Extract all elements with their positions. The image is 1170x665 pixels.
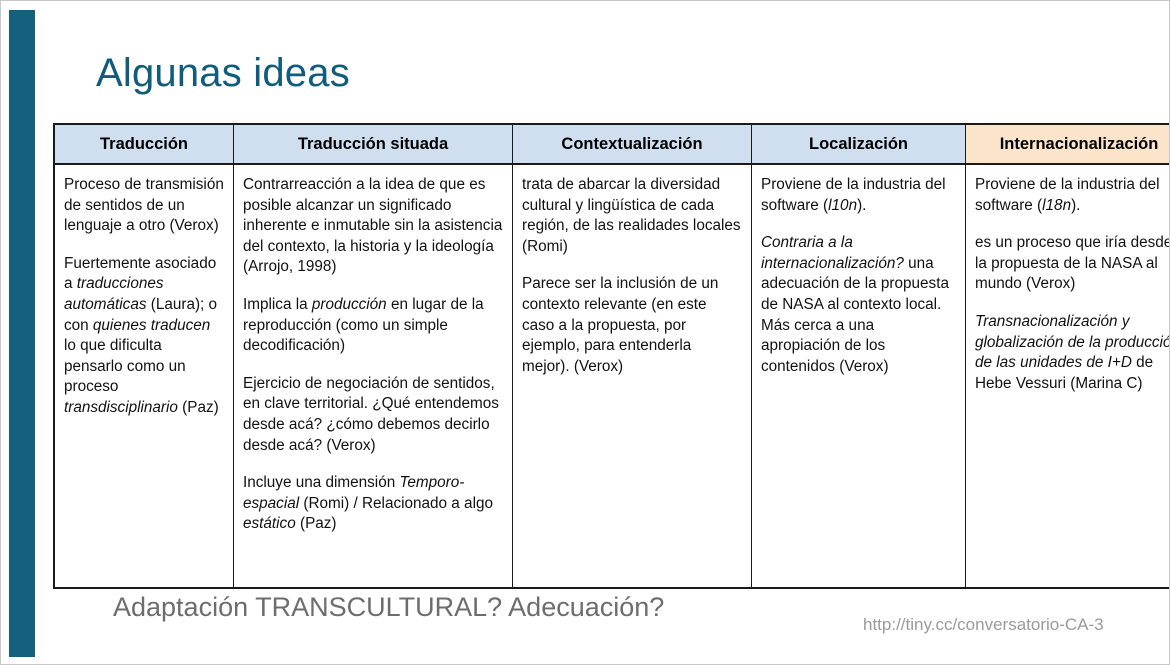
footer-question: Adaptación TRANSCULTURAL? Adecuación?: [113, 589, 664, 625]
table-header-row: Traducción Traducción situada Contextual…: [54, 124, 1170, 164]
plain-text: lo que dificulta pensarlo como un proces…: [64, 337, 186, 395]
cell-traduccion-situada: Contrarreacción a la idea de que es posi…: [234, 164, 513, 588]
column-header-localizacion: Localización: [752, 124, 966, 164]
cell-paragraph: Fuertemente asociado a traducciones auto…: [64, 254, 224, 419]
cell-paragraph: Ejercicio de negociación de sentidos, en…: [243, 374, 503, 456]
cell-contextualizacion: trata de abarcar la diversidad cultural …: [513, 164, 752, 588]
cell-localizacion: Proviene de la industria del software (l…: [752, 164, 966, 588]
cell-paragraph: es un proceso que iría desde la propuest…: [975, 233, 1170, 295]
table-body: Proceso de transmisión de sentidos de un…: [54, 164, 1170, 588]
ideas-table-wrapper: Traducción Traducción situada Contextual…: [53, 123, 1146, 589]
cell-paragraph: Parece ser la inclusión de un contexto r…: [522, 274, 742, 377]
plain-text: (Romi) / Relacionado a algo: [299, 495, 493, 512]
plain-text: Parece ser la inclusión de un contexto r…: [522, 275, 718, 374]
table-header: Traducción Traducción situada Contextual…: [54, 124, 1170, 164]
cell-internacionalizacion: Proviene de la industria del software (l…: [966, 164, 1170, 588]
cell-paragraph: trata de abarcar la diversidad cultural …: [522, 175, 742, 257]
plain-text: ).: [857, 197, 866, 214]
emphasis-text: l10n: [828, 197, 857, 214]
emphasis-text: Contraria a la internacionalización?: [761, 234, 904, 272]
ideas-table: Traducción Traducción situada Contextual…: [53, 123, 1170, 589]
cell-paragraph: Contrarreacción a la idea de que es posi…: [243, 175, 503, 278]
plain-text: Proceso de transmisión de sentidos de un…: [64, 176, 224, 234]
column-header-internacionalizacion: Internacionalización: [966, 124, 1170, 164]
plain-text: (Paz): [296, 515, 337, 532]
column-header-traduccion: Traducción: [54, 124, 234, 164]
plain-text: trata de abarcar la diversidad cultural …: [522, 176, 741, 255]
cell-paragraph: Incluye una dimensión Temporo-espacial (…: [243, 473, 503, 535]
plain-text: Ejercicio de negociación de sentidos, en…: [243, 375, 499, 454]
emphasis-text: quienes traducen: [93, 317, 210, 334]
plain-text: ).: [1071, 197, 1080, 214]
table-row: Proceso de transmisión de sentidos de un…: [54, 164, 1170, 588]
plain-text: es un proceso que iría desde la propuest…: [975, 234, 1170, 292]
emphasis-text: l18n: [1042, 197, 1071, 214]
plain-text: Contrarreacción a la idea de que es posi…: [243, 176, 502, 275]
cell-paragraph: Proceso de transmisión de sentidos de un…: [64, 175, 224, 237]
cell-paragraph: Proviene de la industria del software (l…: [761, 175, 956, 216]
cell-paragraph: Proviene de la industria del software (l…: [975, 175, 1170, 216]
cell-paragraph: Transnacionalización y globalización de …: [975, 312, 1170, 394]
emphasis-text: producción: [312, 296, 387, 313]
page-title: Algunas ideas: [96, 48, 350, 98]
slide: Algunas ideas Traducción Traducción situ…: [0, 0, 1170, 665]
accent-bar: [9, 10, 35, 657]
plain-text: Implica la: [243, 296, 312, 313]
column-header-traduccion-situada: Traducción situada: [234, 124, 513, 164]
plain-text: Incluye una dimensión: [243, 474, 399, 491]
cell-paragraph: Implica la producción en lugar de la rep…: [243, 295, 503, 357]
emphasis-text: estático: [243, 515, 296, 532]
cell-paragraph: Contraria a la internacionalización? una…: [761, 233, 956, 377]
slide-url[interactable]: http://tiny.cc/conversatorio-CA-3: [863, 613, 1104, 637]
emphasis-text: transdisciplinario: [64, 399, 178, 416]
cell-traduccion: Proceso de transmisión de sentidos de un…: [54, 164, 234, 588]
column-header-contextualizacion: Contextualización: [513, 124, 752, 164]
plain-text: una adecuación de la propuesta de NASA a…: [761, 255, 949, 375]
plain-text: (Paz): [178, 399, 219, 416]
